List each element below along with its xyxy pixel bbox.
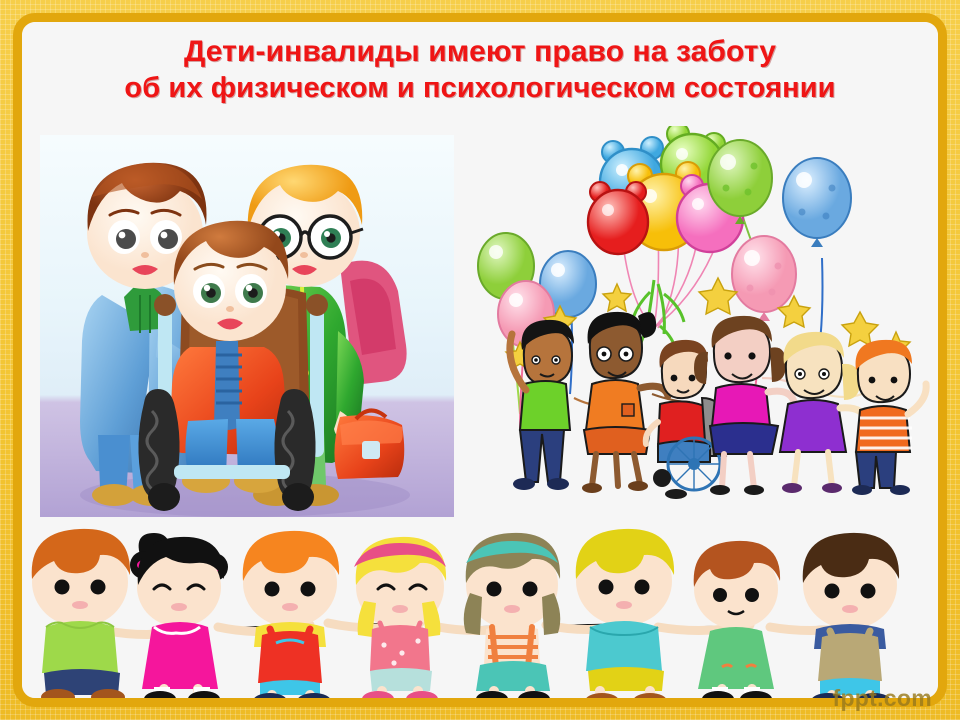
watermark-fppt: fppt.com (833, 685, 933, 712)
bottom-children-row (22, 527, 938, 698)
slide-canvas: Дети-инвалиды имеют право на заботу об и… (22, 22, 938, 698)
clipart-child-striped-orange (852, 340, 926, 495)
bottom-children-illustration (22, 527, 938, 698)
photo-three-children (40, 135, 454, 517)
page-title: Дети-инвалиды имеют право на заботу об и… (22, 34, 938, 106)
clipart-illustration (462, 126, 932, 526)
clipart-child-purple-dress (780, 332, 866, 493)
clipart-child-orange-dress (582, 312, 668, 493)
bottom-kid-red-overalls (243, 531, 339, 698)
bottom-kid-pink-dress (130, 533, 228, 698)
bottom-kid-khaki-overalls (803, 533, 899, 698)
title-line-1: Дети-инвалиды имеют право на заботу (22, 34, 938, 70)
clipart-children-balloons (462, 126, 932, 526)
title-line-2: об их физическом и психологическом состо… (22, 70, 938, 106)
bottom-kid-pink-tank-top (354, 537, 446, 698)
balloon-round-blue (783, 158, 851, 247)
slide-root: Дети-инвалиды имеют право на заботу об и… (0, 0, 960, 720)
bottom-kid-teal-shirt (576, 529, 674, 698)
photo-illustration (40, 135, 454, 517)
bottom-kid-green-dress (694, 541, 780, 698)
bottom-kid-green-tshirt (32, 529, 130, 698)
bottom-kid-striped-overalls (464, 533, 561, 698)
balloon-bear-red (588, 182, 648, 254)
